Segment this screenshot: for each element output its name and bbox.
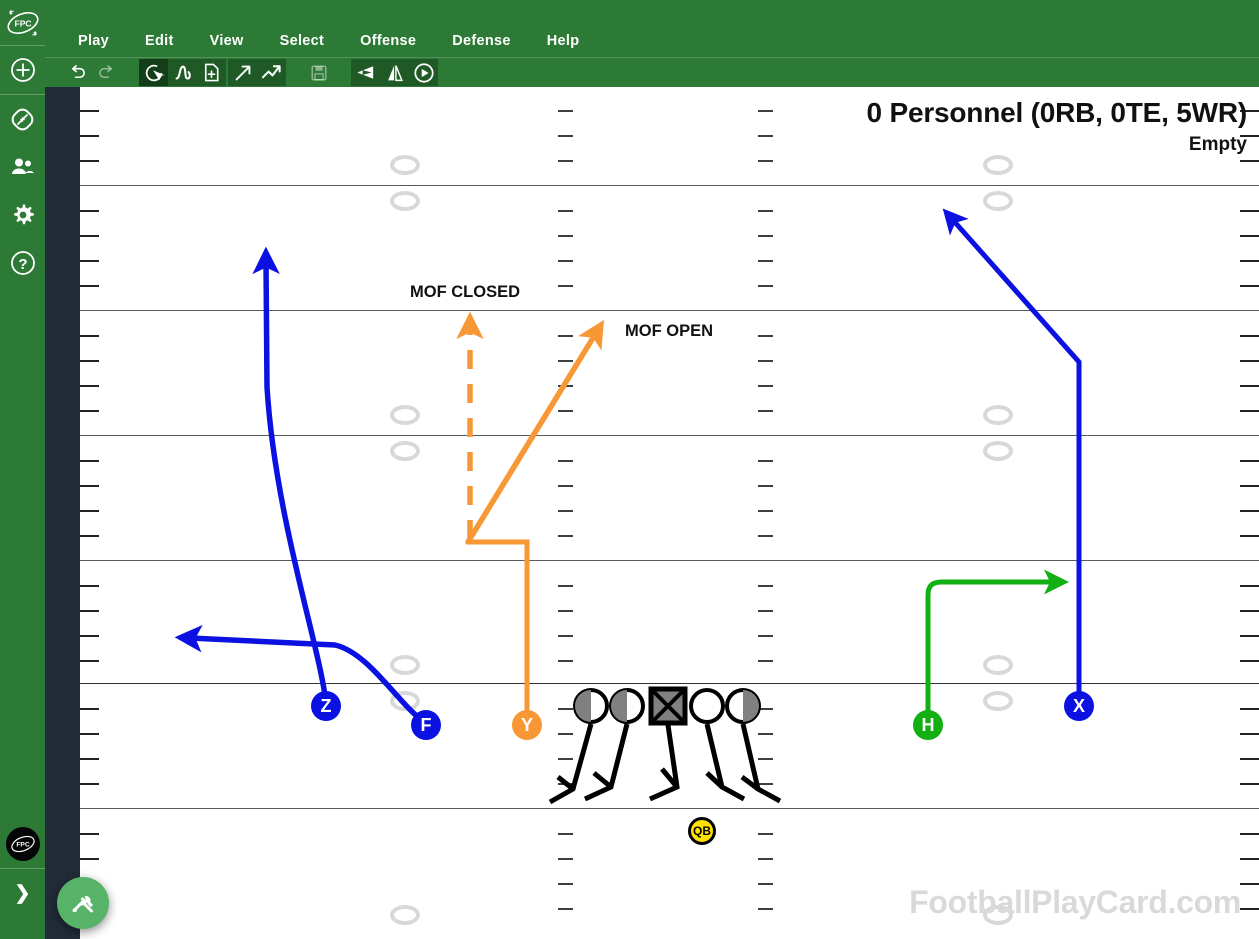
menu-item-help[interactable]: Help <box>534 29 593 53</box>
window-titlebar <box>45 0 1259 24</box>
zigzag-arrow-icon <box>260 61 283 84</box>
toolbar-gap <box>333 72 351 73</box>
lineman-lt[interactable] <box>550 690 607 802</box>
route-y-mof-open[interactable] <box>468 333 596 542</box>
sidebar-item-plays[interactable] <box>0 95 45 143</box>
player-label: H <box>922 715 935 736</box>
chevron-right-icon: ❯ <box>15 882 31 905</box>
player-label: F <box>421 715 432 736</box>
sidebar-item-settings[interactable] <box>0 191 45 239</box>
play-canvas[interactable]: Z F Y H X QB 0 Personnel (0RB, 0TE, 5WR)… <box>45 87 1259 939</box>
plus-circle-icon <box>10 57 36 83</box>
sidebar-brand-badge[interactable]: FPC <box>0 820 45 868</box>
toolbar <box>45 58 1259 87</box>
app-window: FPC <box>0 0 1259 939</box>
football-field[interactable]: Z F Y H X QB 0 Personnel (0RB, 0TE, 5WR)… <box>80 87 1259 939</box>
toolbar-gap <box>121 72 139 73</box>
menu-bar: Play Edit View Select Offense Defense He… <box>45 24 1259 58</box>
sidebar-item-help[interactable]: ? <box>0 239 45 287</box>
offensive-line[interactable] <box>550 689 780 802</box>
undo-icon <box>68 63 87 82</box>
receiver-x[interactable]: X <box>1064 691 1094 721</box>
sidebar-brand-logo[interactable]: FPC <box>0 0 45 45</box>
tools-icon <box>70 890 96 916</box>
people-icon <box>9 154 36 181</box>
football-icon <box>9 106 36 133</box>
receiver-z[interactable]: Z <box>311 691 341 721</box>
save-button[interactable] <box>304 59 333 86</box>
menu-item-select[interactable]: Select <box>267 29 338 53</box>
player-label: Z <box>321 696 332 717</box>
menu-item-edit[interactable]: Edit <box>132 29 187 53</box>
freehand-tool[interactable] <box>168 59 197 86</box>
mof-open-label: MOF OPEN <box>625 322 713 341</box>
formation-subtitle: Empty <box>1189 134 1247 156</box>
toolbar-group-transform <box>351 59 438 86</box>
left-sidebar: FPC <box>0 0 45 939</box>
straight-route-tool[interactable] <box>228 59 257 86</box>
flip-left-button[interactable] <box>351 59 380 86</box>
menu-item-defense[interactable]: Defense <box>439 29 524 53</box>
fpc-badge-icon: FPC <box>6 827 40 861</box>
route-x[interactable] <box>952 219 1079 703</box>
player-label: Y <box>521 715 533 736</box>
quarterback[interactable]: QB <box>688 817 716 845</box>
arrow-up-right-icon <box>232 62 254 84</box>
menu-item-view[interactable]: View <box>197 29 257 53</box>
file-plus-icon <box>201 62 222 83</box>
toolbar-group-routes <box>228 59 286 86</box>
lineman-rt[interactable] <box>727 690 780 801</box>
svg-text:FPC: FPC <box>16 842 30 849</box>
sidebar-item-add[interactable] <box>0 46 45 94</box>
receiver-y[interactable]: Y <box>512 710 542 740</box>
lineman-c[interactable] <box>650 689 685 799</box>
sidebar-item-roster[interactable] <box>0 143 45 191</box>
play-animation-button[interactable] <box>409 59 438 86</box>
watermark: FootballPlayCard.com <box>909 884 1241 921</box>
cursor-lasso-icon <box>143 62 165 84</box>
sidebar-expand-button[interactable]: ❯ <box>0 869 45 917</box>
mof-closed-label: MOF CLOSED <box>410 283 520 302</box>
undo-button[interactable] <box>63 59 92 86</box>
mirror-icon <box>384 62 406 84</box>
field-sideline-left <box>45 87 80 939</box>
fpc-football-logo-icon: FPC <box>5 5 41 41</box>
select-tool[interactable] <box>139 59 168 86</box>
add-card-tool[interactable] <box>197 59 226 86</box>
redo-icon <box>97 63 116 82</box>
flip-left-icon <box>354 61 377 84</box>
receiver-h[interactable]: H <box>913 710 943 740</box>
menu-item-play[interactable]: Play <box>65 29 122 53</box>
page-title: 0 Personnel (0RB, 0TE, 5WR) <box>867 97 1247 129</box>
question-circle-icon: ? <box>10 250 36 276</box>
routes-layer <box>80 87 1259 939</box>
route-h[interactable] <box>928 582 1055 721</box>
route-f[interactable] <box>190 638 426 723</box>
play-circle-icon <box>413 62 435 84</box>
floppy-disk-icon <box>310 64 328 82</box>
svg-text:?: ? <box>18 256 27 273</box>
player-label: X <box>1073 696 1085 717</box>
zigzag-route-tool[interactable] <box>257 59 286 86</box>
receiver-f[interactable]: F <box>411 710 441 740</box>
gear-icon <box>10 202 36 228</box>
player-label: QB <box>693 824 711 838</box>
route-z[interactable] <box>266 262 326 703</box>
route-y-stem[interactable] <box>468 542 527 721</box>
tools-fab-button[interactable] <box>57 877 109 929</box>
redo-button[interactable] <box>92 59 121 86</box>
menu-item-offense[interactable]: Offense <box>347 29 429 53</box>
mirror-button[interactable] <box>380 59 409 86</box>
toolbar-gap <box>286 72 304 73</box>
svg-text:FPC: FPC <box>14 18 31 28</box>
toolbar-left-pad <box>45 72 63 73</box>
toolbar-group-tools <box>139 59 226 86</box>
squiggle-icon <box>172 62 194 84</box>
